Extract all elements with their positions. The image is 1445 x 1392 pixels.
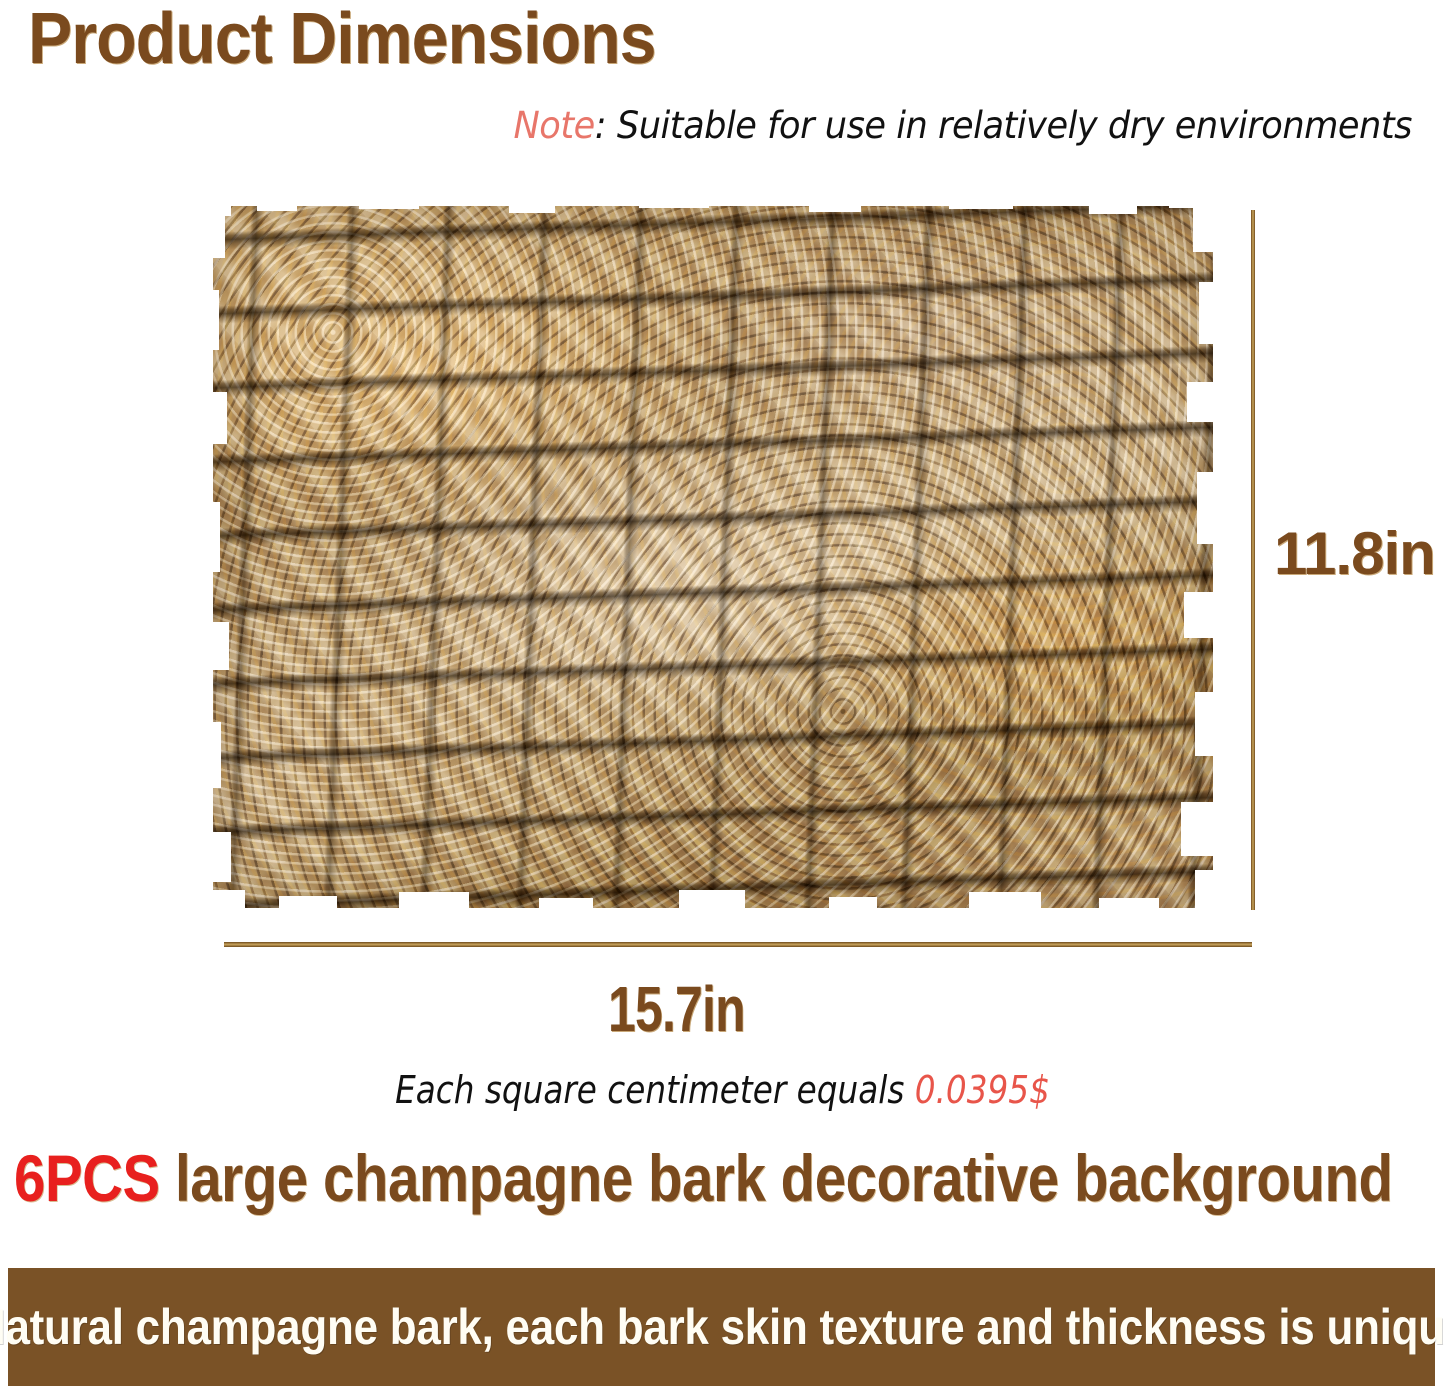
price-note-prefix: Each square centimeter equals: [395, 1068, 915, 1112]
price-note: Each square centimeter equals 0.0395$: [101, 1068, 1344, 1112]
bottom-banner-text: Natural champagne bark, each bark skin t…: [0, 1298, 1445, 1356]
note-line: Note: Suitable for use in relatively dry…: [71, 104, 1412, 147]
product-headline: 6PCS large champagne bark decorative bac…: [14, 1140, 1393, 1216]
bark-texture: [213, 206, 1213, 908]
price-note-value: 0.0395$: [915, 1068, 1050, 1112]
page-title: Product Dimensions: [28, 2, 656, 78]
height-dimension-label: 11.8in: [1274, 519, 1435, 588]
width-dimension-line: [224, 942, 1252, 947]
note-label: Note: [513, 104, 594, 147]
product-dimensions-infographic: Product Dimensions Note: Suitable for us…: [0, 0, 1445, 1392]
bottom-banner: Natural champagne bark, each bark skin t…: [8, 1268, 1435, 1386]
product-image: [213, 206, 1213, 908]
note-separator: :: [595, 104, 617, 147]
headline-count-badge: 6PCS: [14, 1141, 160, 1215]
height-dimension-line: [1251, 210, 1255, 910]
headline-text: large champagne bark decorative backgrou…: [160, 1141, 1393, 1215]
width-dimension-label: 15.7in: [608, 972, 745, 1046]
note-text: Suitable for use in relatively dry envir…: [617, 104, 1412, 147]
